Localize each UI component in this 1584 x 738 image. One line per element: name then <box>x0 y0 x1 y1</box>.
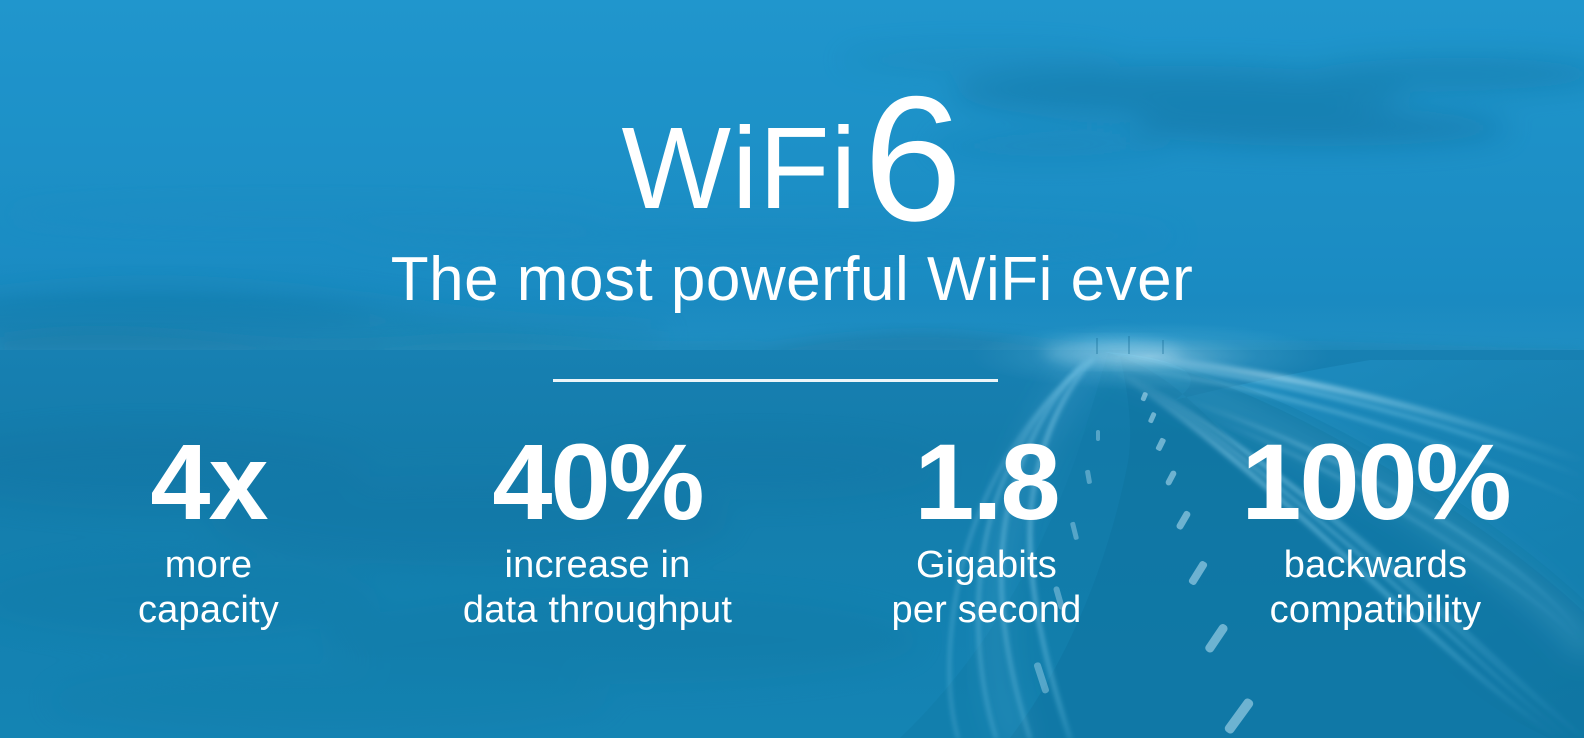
stat-label: more capacity <box>14 543 403 632</box>
stat-label-line-2: data throughput <box>403 588 792 632</box>
stat-label-line-1: more <box>14 543 403 587</box>
hero-title: WiFi6 <box>0 58 1584 236</box>
stats-row: 4x more capacity 40% increase in data th… <box>0 432 1584 652</box>
hero-title-numeral: 6 <box>863 59 962 258</box>
stat-label-line-2: compatibility <box>1181 588 1570 632</box>
hero-title-word: WiFi <box>622 103 858 233</box>
stat-value: 1.8 <box>792 432 1181 531</box>
stat-label: backwards compatibility <box>1181 543 1570 632</box>
banner-content: WiFi6 The most powerful WiFi ever 4x mor… <box>0 0 1584 738</box>
stat-label-line-2: per second <box>792 588 1181 632</box>
stat-item-compatibility: 100% backwards compatibility <box>1181 432 1570 632</box>
stat-label: Gigabits per second <box>792 543 1181 632</box>
hero-subtitle: The most powerful WiFi ever <box>0 247 1584 312</box>
divider-rule <box>553 379 998 382</box>
stat-label: increase in data throughput <box>403 543 792 632</box>
stat-label-line-2: capacity <box>14 588 403 632</box>
stat-item-speed: 1.8 Gigabits per second <box>792 432 1181 632</box>
stat-label-line-1: Gigabits <box>792 543 1181 587</box>
stat-item-throughput: 40% increase in data throughput <box>403 432 792 632</box>
wifi6-marketing-banner: WiFi6 The most powerful WiFi ever 4x mor… <box>0 0 1584 738</box>
stat-value: 100% <box>1181 432 1570 531</box>
stat-value: 40% <box>403 432 792 531</box>
stat-label-line-1: increase in <box>403 543 792 587</box>
stat-value: 4x <box>14 432 403 531</box>
stat-item-capacity: 4x more capacity <box>14 432 403 632</box>
stat-label-line-1: backwards <box>1181 543 1570 587</box>
